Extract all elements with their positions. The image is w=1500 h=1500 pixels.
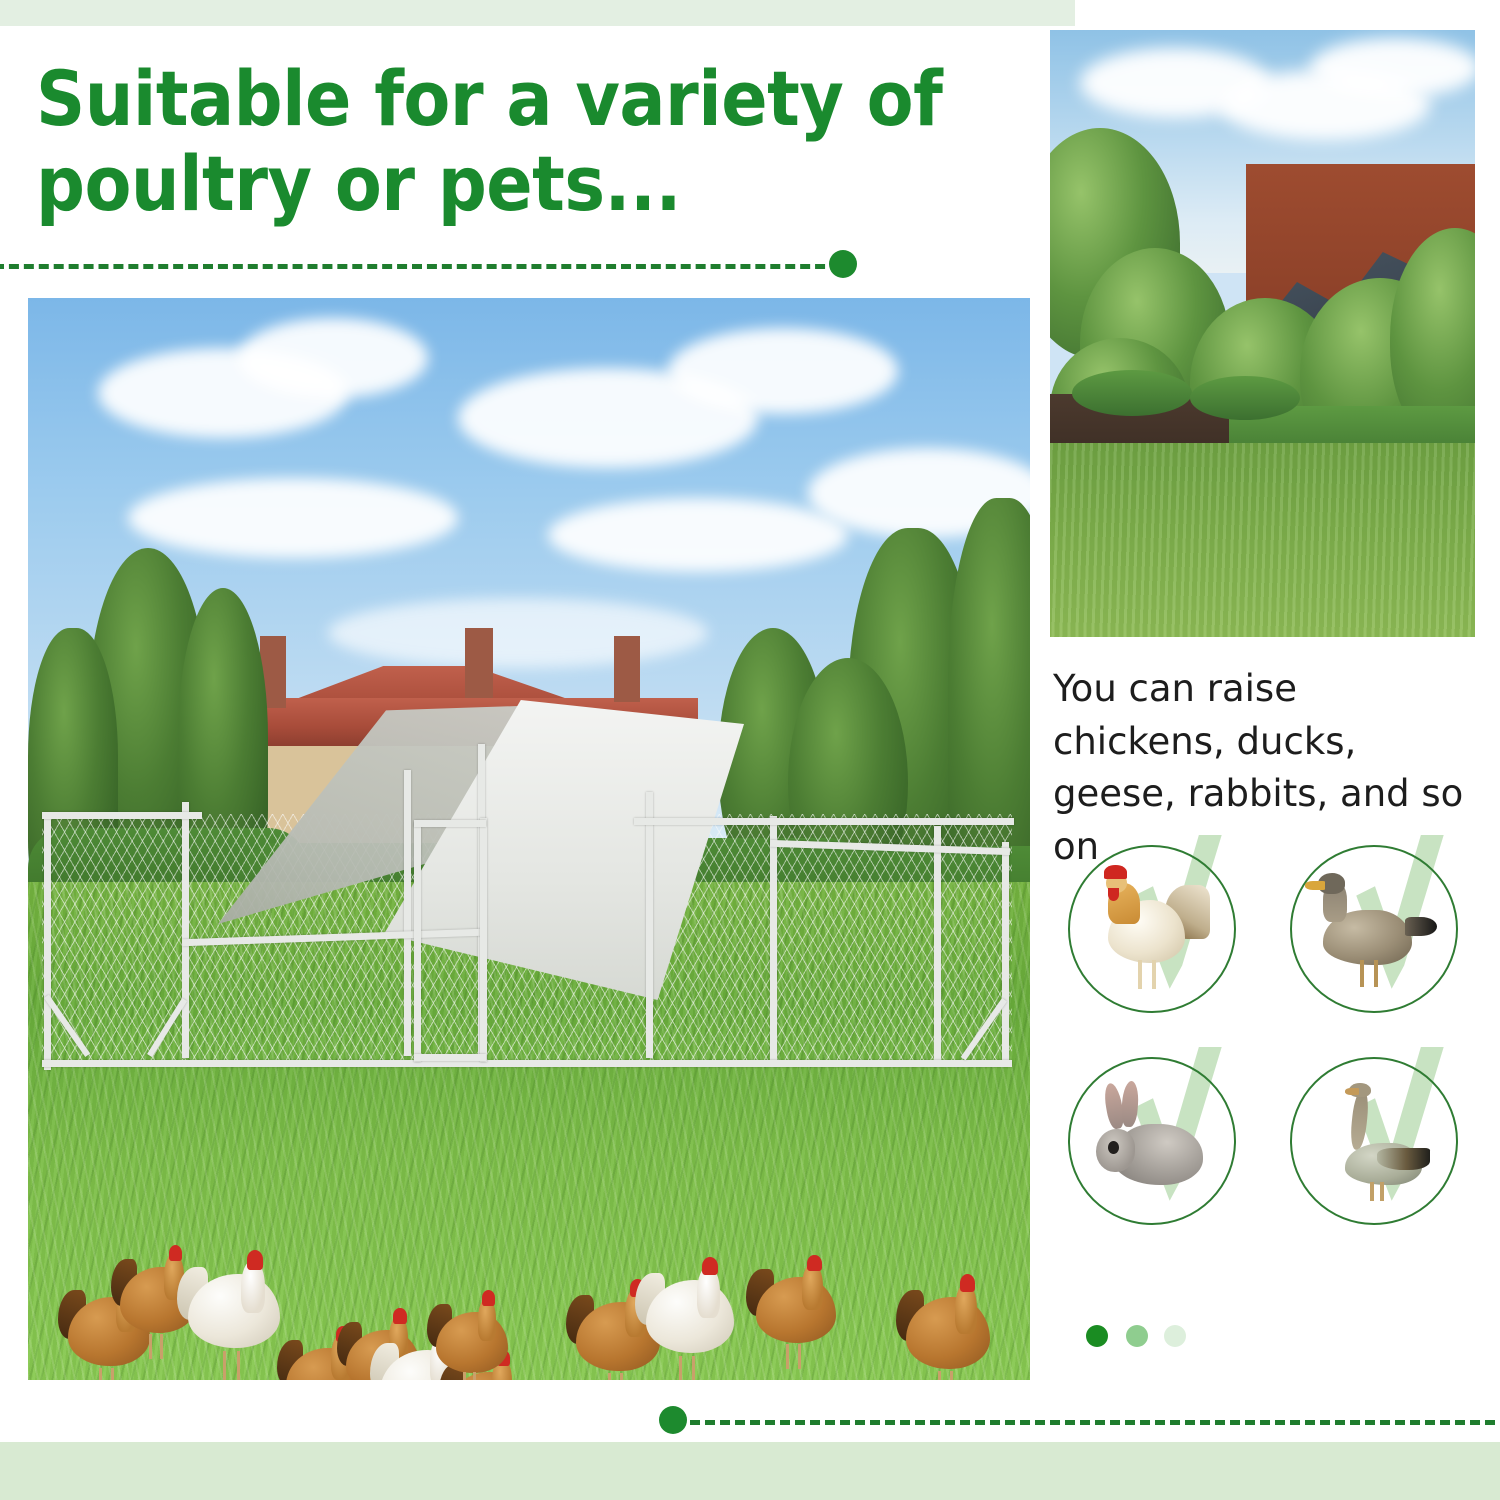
coop-rail	[42, 812, 202, 819]
coop-door-sill	[414, 1054, 486, 1061]
animal-badge-grid	[1068, 845, 1488, 1275]
lawn	[1050, 443, 1475, 637]
divider-dot-bottom	[659, 1406, 687, 1434]
coop-post	[44, 814, 51, 1070]
chicken-coop-structure	[34, 698, 1019, 1128]
chicken	[906, 1283, 990, 1380]
cloud	[128, 478, 458, 558]
topiary-bush	[1190, 376, 1300, 420]
chicken	[756, 1263, 836, 1369]
page-headline: Suitable for a variety of poultry or pet…	[36, 56, 996, 226]
badge-goose[interactable]	[1290, 1057, 1458, 1225]
chimney	[465, 628, 493, 698]
coop-post	[934, 826, 941, 1066]
carousel-dot-1[interactable]	[1086, 1325, 1108, 1347]
carousel-pagination[interactable]	[1086, 1325, 1206, 1355]
top-accent-band	[0, 0, 1075, 26]
coop-door-header	[414, 820, 486, 827]
badge-duck[interactable]	[1290, 845, 1458, 1013]
cloud	[238, 318, 428, 398]
badge-rabbit[interactable]	[1068, 1057, 1236, 1225]
coop-post	[182, 802, 189, 1058]
duck-illustration	[1310, 869, 1434, 990]
cloud	[668, 328, 898, 414]
coop-post	[1002, 842, 1009, 1062]
cloud	[1310, 38, 1475, 98]
coop-post	[404, 770, 411, 1056]
cloud	[328, 598, 708, 668]
cloud	[548, 498, 848, 572]
chicken	[436, 1298, 508, 1380]
main-product-photo	[28, 298, 1030, 1380]
dashed-divider-bottom	[690, 1420, 1500, 1425]
product-infographic-page: Suitable for a variety of poultry or pet…	[0, 0, 1500, 1500]
badge-chicken[interactable]	[1068, 845, 1236, 1013]
coop-rail	[634, 818, 1014, 825]
chicken	[646, 1266, 734, 1380]
coop-base-rail	[42, 1060, 1012, 1067]
chimney	[614, 636, 640, 702]
coop-post	[646, 792, 653, 1058]
chicken	[188, 1260, 280, 1380]
rabbit-illustration	[1088, 1081, 1212, 1202]
coop-door-frame	[480, 818, 487, 1062]
dashed-divider-top	[0, 264, 840, 269]
bottom-accent-band	[0, 1442, 1500, 1500]
coop-post	[770, 816, 777, 1066]
divider-dot-top	[829, 250, 857, 278]
headline-line-2: poultry or pets...	[36, 141, 996, 226]
headline-line-1: Suitable for a variety of	[36, 54, 942, 143]
rooster-illustration	[1088, 869, 1212, 990]
carousel-dot-2[interactable]	[1126, 1325, 1148, 1347]
carousel-dot-3[interactable]	[1164, 1325, 1186, 1347]
goose-illustration	[1310, 1081, 1434, 1202]
coop-door-frame	[414, 822, 421, 1062]
backyard-lawn-photo	[1050, 30, 1475, 637]
topiary-bush	[1072, 370, 1192, 416]
